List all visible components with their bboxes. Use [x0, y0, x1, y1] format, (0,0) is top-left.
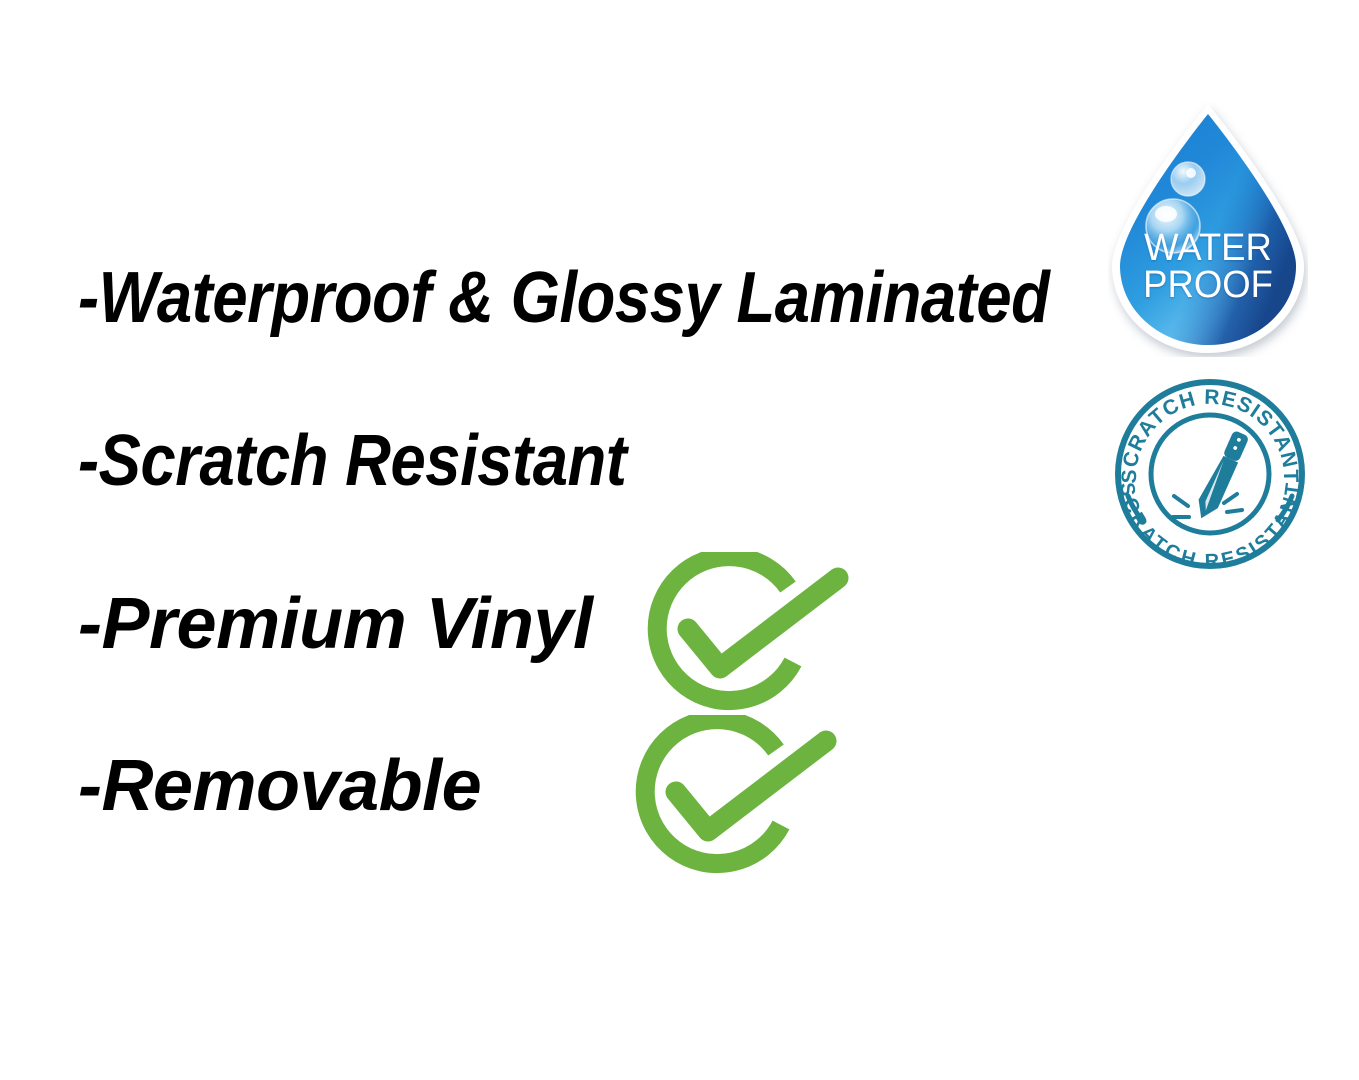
waterproof-badge: WATER PROOF	[1108, 102, 1308, 357]
product-feature-graphic: -Waterproof & Glossy Laminated -Scratch …	[0, 0, 1359, 1080]
scratch-arc-text-top-value: SCRATCH RESISTANT	[1112, 570, 1113, 571]
feature-list: -Waterproof & Glossy Laminated -Scratch …	[0, 0, 1100, 1080]
bubble-small-highlight	[1186, 168, 1196, 178]
check-circle-premium-vinyl: Premium Vinyl check	[640, 552, 850, 712]
scratch-arc-text-bottom-value: SCRATCH RESISTANT	[1112, 570, 1113, 571]
bubble-large-highlight	[1155, 206, 1177, 222]
feature-item-premium-vinyl: -Premium Vinyl	[78, 588, 592, 660]
check-circle-icon	[628, 715, 838, 875]
check-tick	[688, 578, 838, 668]
water-drop-icon	[1108, 102, 1308, 357]
scratch-resistant-stamp-icon: SCRATCH RESISTANT SCRATCH RESISTANT	[1112, 378, 1308, 570]
scratch-resistant-badge: SCRATCH RESISTANT SCRATCH RESISTANT	[1112, 378, 1308, 570]
feature-item-waterproof-glossy-laminated: -Waterproof & Glossy Laminated	[78, 262, 1049, 334]
check-tick	[676, 741, 826, 831]
bubble-large-icon	[1146, 199, 1200, 253]
bubble-small-icon	[1171, 162, 1205, 196]
stamp-arc-text-top: SCRATCH RESISTANT	[1118, 386, 1302, 484]
stamp-inner-ring	[1151, 415, 1269, 533]
feature-item-removable: -Removable	[78, 750, 481, 822]
check-circle-icon	[640, 552, 850, 712]
feature-item-scratch-resistant: -Scratch Resistant	[78, 425, 626, 497]
check-circle-removable: Removable check	[628, 715, 838, 875]
